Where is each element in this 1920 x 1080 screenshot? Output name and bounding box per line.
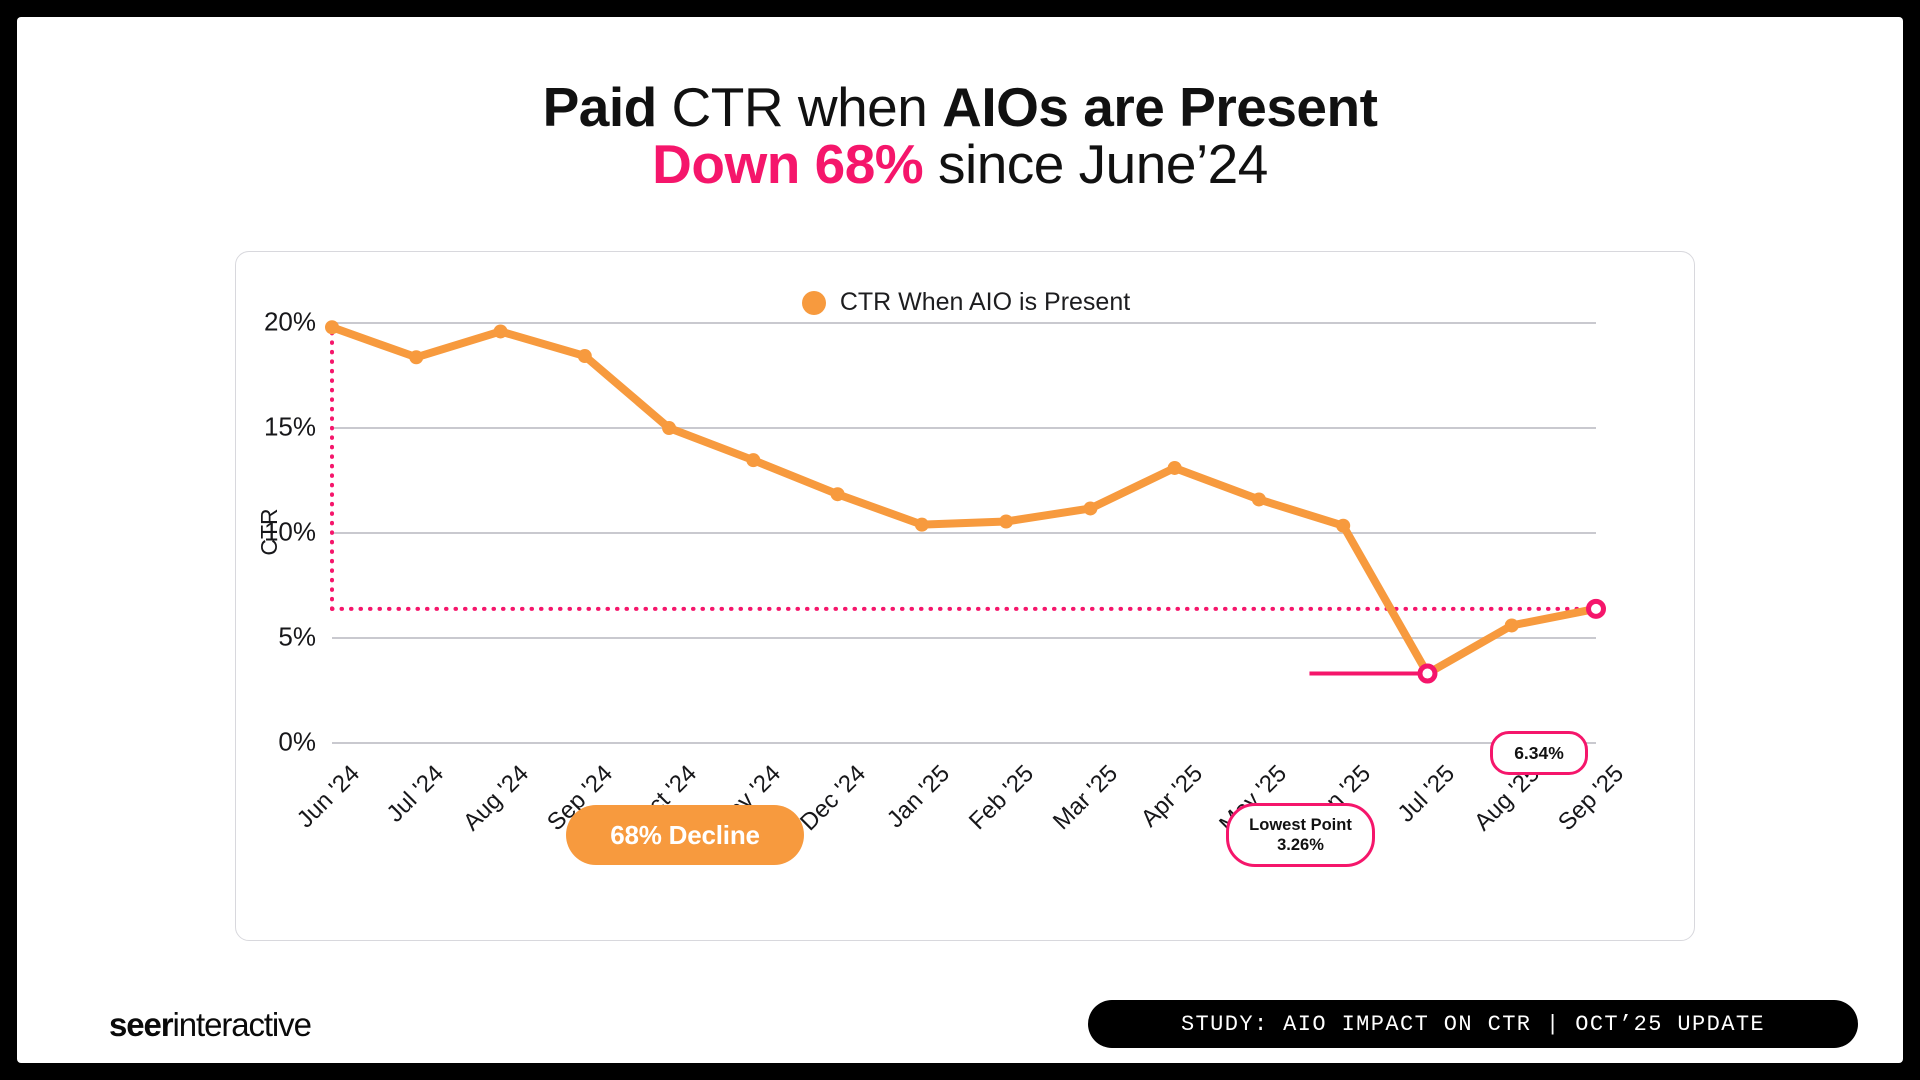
title-text-ctr-when: CTR when: [672, 76, 943, 138]
chart-legend: CTR When AIO is Present: [236, 288, 1696, 317]
y-axis-tick-label: 15%: [264, 412, 316, 443]
data-point: [746, 453, 760, 467]
title-text-aios-present: AIOs are Present: [942, 76, 1377, 138]
series-line: [332, 327, 1596, 673]
chart-card: CTR When AIO is Present CTR 0%5%10%15%20…: [235, 251, 1695, 941]
data-point: [662, 421, 676, 435]
data-point: [1083, 501, 1097, 515]
data-point: [325, 320, 339, 334]
poster-frame: Paid CTR when AIOs are Present Down 68% …: [0, 0, 1920, 1080]
data-point: [578, 349, 592, 363]
x-axis-tick-label: Jun '24: [292, 760, 366, 834]
data-point: [494, 324, 508, 338]
y-axis-tick-label: 20%: [264, 307, 316, 338]
y-axis-tick-label: 0%: [278, 727, 316, 758]
x-axis-tick-label: Mar '25: [1048, 760, 1124, 836]
y-axis-tick-label: 5%: [278, 622, 316, 653]
data-point-highlighted: [1420, 666, 1435, 681]
title-line-1: Paid CTR when AIOs are Present: [17, 79, 1903, 136]
x-axis-tick-label: Jul '25: [1393, 760, 1461, 828]
y-axis-tick-label: 10%: [264, 517, 316, 548]
series-svg: [332, 322, 1596, 742]
legend-label: CTR When AIO is Present: [840, 288, 1130, 317]
gridline: [332, 742, 1596, 744]
page-title: Paid CTR when AIOs are Present Down 68% …: [17, 79, 1903, 193]
x-axis-tick-label: Apr '25: [1135, 760, 1208, 833]
x-axis-tick-label: Dec '24: [795, 760, 872, 837]
data-point: [915, 518, 929, 532]
annotation-latest-value-badge: 6.34%: [1490, 731, 1588, 775]
title-text-down-68: Down 68%: [652, 133, 923, 195]
plot-area: CTR 0%5%10%15%20% Jun '24Jul '24Aug '24S…: [332, 322, 1596, 742]
poster-canvas: Paid CTR when AIOs are Present Down 68% …: [17, 17, 1903, 1063]
seer-interactive-logo: seerinteractive: [109, 1006, 311, 1044]
x-axis-tick-label: Aug '24: [457, 760, 534, 837]
logo-text-interactive: interactive: [173, 1006, 311, 1043]
title-word-paid: Paid: [543, 76, 672, 138]
study-badge: STUDY: AIO IMPACT ON CTR | OCT’25 UPDATE: [1088, 1000, 1858, 1048]
lowest-point-title: Lowest Point: [1249, 815, 1352, 835]
annotation-lowest-point-callout: Lowest Point 3.26%: [1226, 803, 1375, 867]
lowest-point-value: 3.26%: [1277, 835, 1324, 855]
data-point: [1505, 618, 1519, 632]
logo-text-seer: seer: [109, 1006, 173, 1043]
data-point: [999, 515, 1013, 529]
x-axis-tick-label: Jan '25: [882, 760, 956, 834]
data-point: [1336, 519, 1350, 533]
title-text-since-june: since June’24: [923, 133, 1268, 195]
data-point: [831, 487, 845, 501]
data-point: [1168, 461, 1182, 475]
data-point: [409, 350, 423, 364]
legend-swatch-icon: [802, 291, 826, 315]
x-axis-tick-label: Feb '25: [964, 760, 1040, 836]
x-axis-tick-label: Jul '24: [382, 760, 450, 828]
data-point: [1252, 492, 1266, 506]
title-line-2: Down 68% since June’24: [17, 136, 1903, 193]
data-point-highlighted: [1589, 601, 1604, 616]
annotation-decline-pill: 68% Decline: [566, 805, 804, 865]
